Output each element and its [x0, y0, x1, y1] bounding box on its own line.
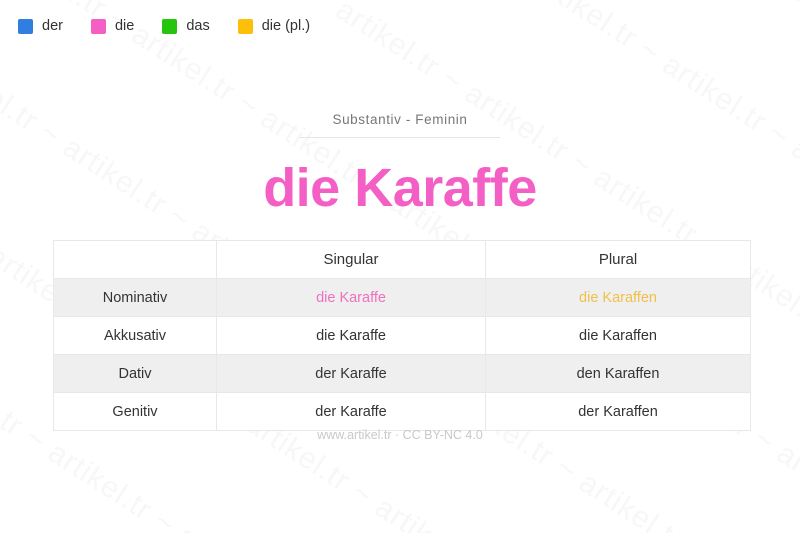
table-body: Nominativ die Karaffe die Karaffen Akkus…: [54, 279, 751, 431]
legend-label: die: [115, 18, 134, 34]
legend-item-das: das: [162, 18, 209, 34]
singular-form-genitiv: der Karaffe: [217, 393, 486, 431]
legend-label: der: [42, 18, 63, 34]
singular-form-dativ: der Karaffe: [217, 355, 486, 393]
case-label-akkusativ: Akkusativ: [54, 317, 217, 355]
declension-table-wrapper: Singular Plural Nominativ die Karaffe di…: [53, 240, 750, 431]
table-row: Genitiv der Karaffe der Karaffen: [54, 393, 751, 431]
column-header-case: [54, 241, 217, 279]
color-swatch-icon: [162, 19, 177, 34]
case-label-dativ: Dativ: [54, 355, 217, 393]
footer-attribution: www.artikel.tr · CC BY-NC 4.0: [0, 428, 800, 442]
legend-item-die-plural: die (pl.): [238, 18, 310, 34]
header-divider: [300, 137, 500, 138]
legend-label: das: [186, 18, 209, 34]
legend-item-die: die: [91, 18, 134, 34]
declension-card: artikel.tr ~ artikel.tr ~ artikel.tr ~ a…: [0, 0, 800, 533]
plural-form-akkusativ: die Karaffen: [486, 317, 751, 355]
table-row: Dativ der Karaffe den Karaffen: [54, 355, 751, 393]
table-header-row: Singular Plural: [54, 241, 751, 279]
table-head: Singular Plural: [54, 241, 751, 279]
case-label-genitiv: Genitiv: [54, 393, 217, 431]
word-category-label: Substantiv - Feminin: [0, 112, 800, 127]
singular-form-nominativ: die Karaffe: [217, 279, 486, 317]
declension-table: Singular Plural Nominativ die Karaffe di…: [53, 240, 751, 431]
card-header: Substantiv - Feminin die Karaffe: [0, 112, 800, 217]
article-color-legend: der die das die (pl.): [18, 18, 338, 34]
table-row: Nominativ die Karaffe die Karaffen: [54, 279, 751, 317]
color-swatch-icon: [18, 19, 33, 34]
color-swatch-icon: [238, 19, 253, 34]
legend-item-der: der: [18, 18, 63, 34]
plural-form-nominativ: die Karaffen: [486, 279, 751, 317]
table-row: Akkusativ die Karaffe die Karaffen: [54, 317, 751, 355]
singular-form-akkusativ: die Karaffe: [217, 317, 486, 355]
plural-form-genitiv: der Karaffen: [486, 393, 751, 431]
plural-form-dativ: den Karaffen: [486, 355, 751, 393]
case-label-nominativ: Nominativ: [54, 279, 217, 317]
column-header-singular: Singular: [217, 241, 486, 279]
page-title: die Karaffe: [0, 160, 800, 217]
legend-label: die (pl.): [262, 18, 310, 34]
column-header-plural: Plural: [486, 241, 751, 279]
color-swatch-icon: [91, 19, 106, 34]
